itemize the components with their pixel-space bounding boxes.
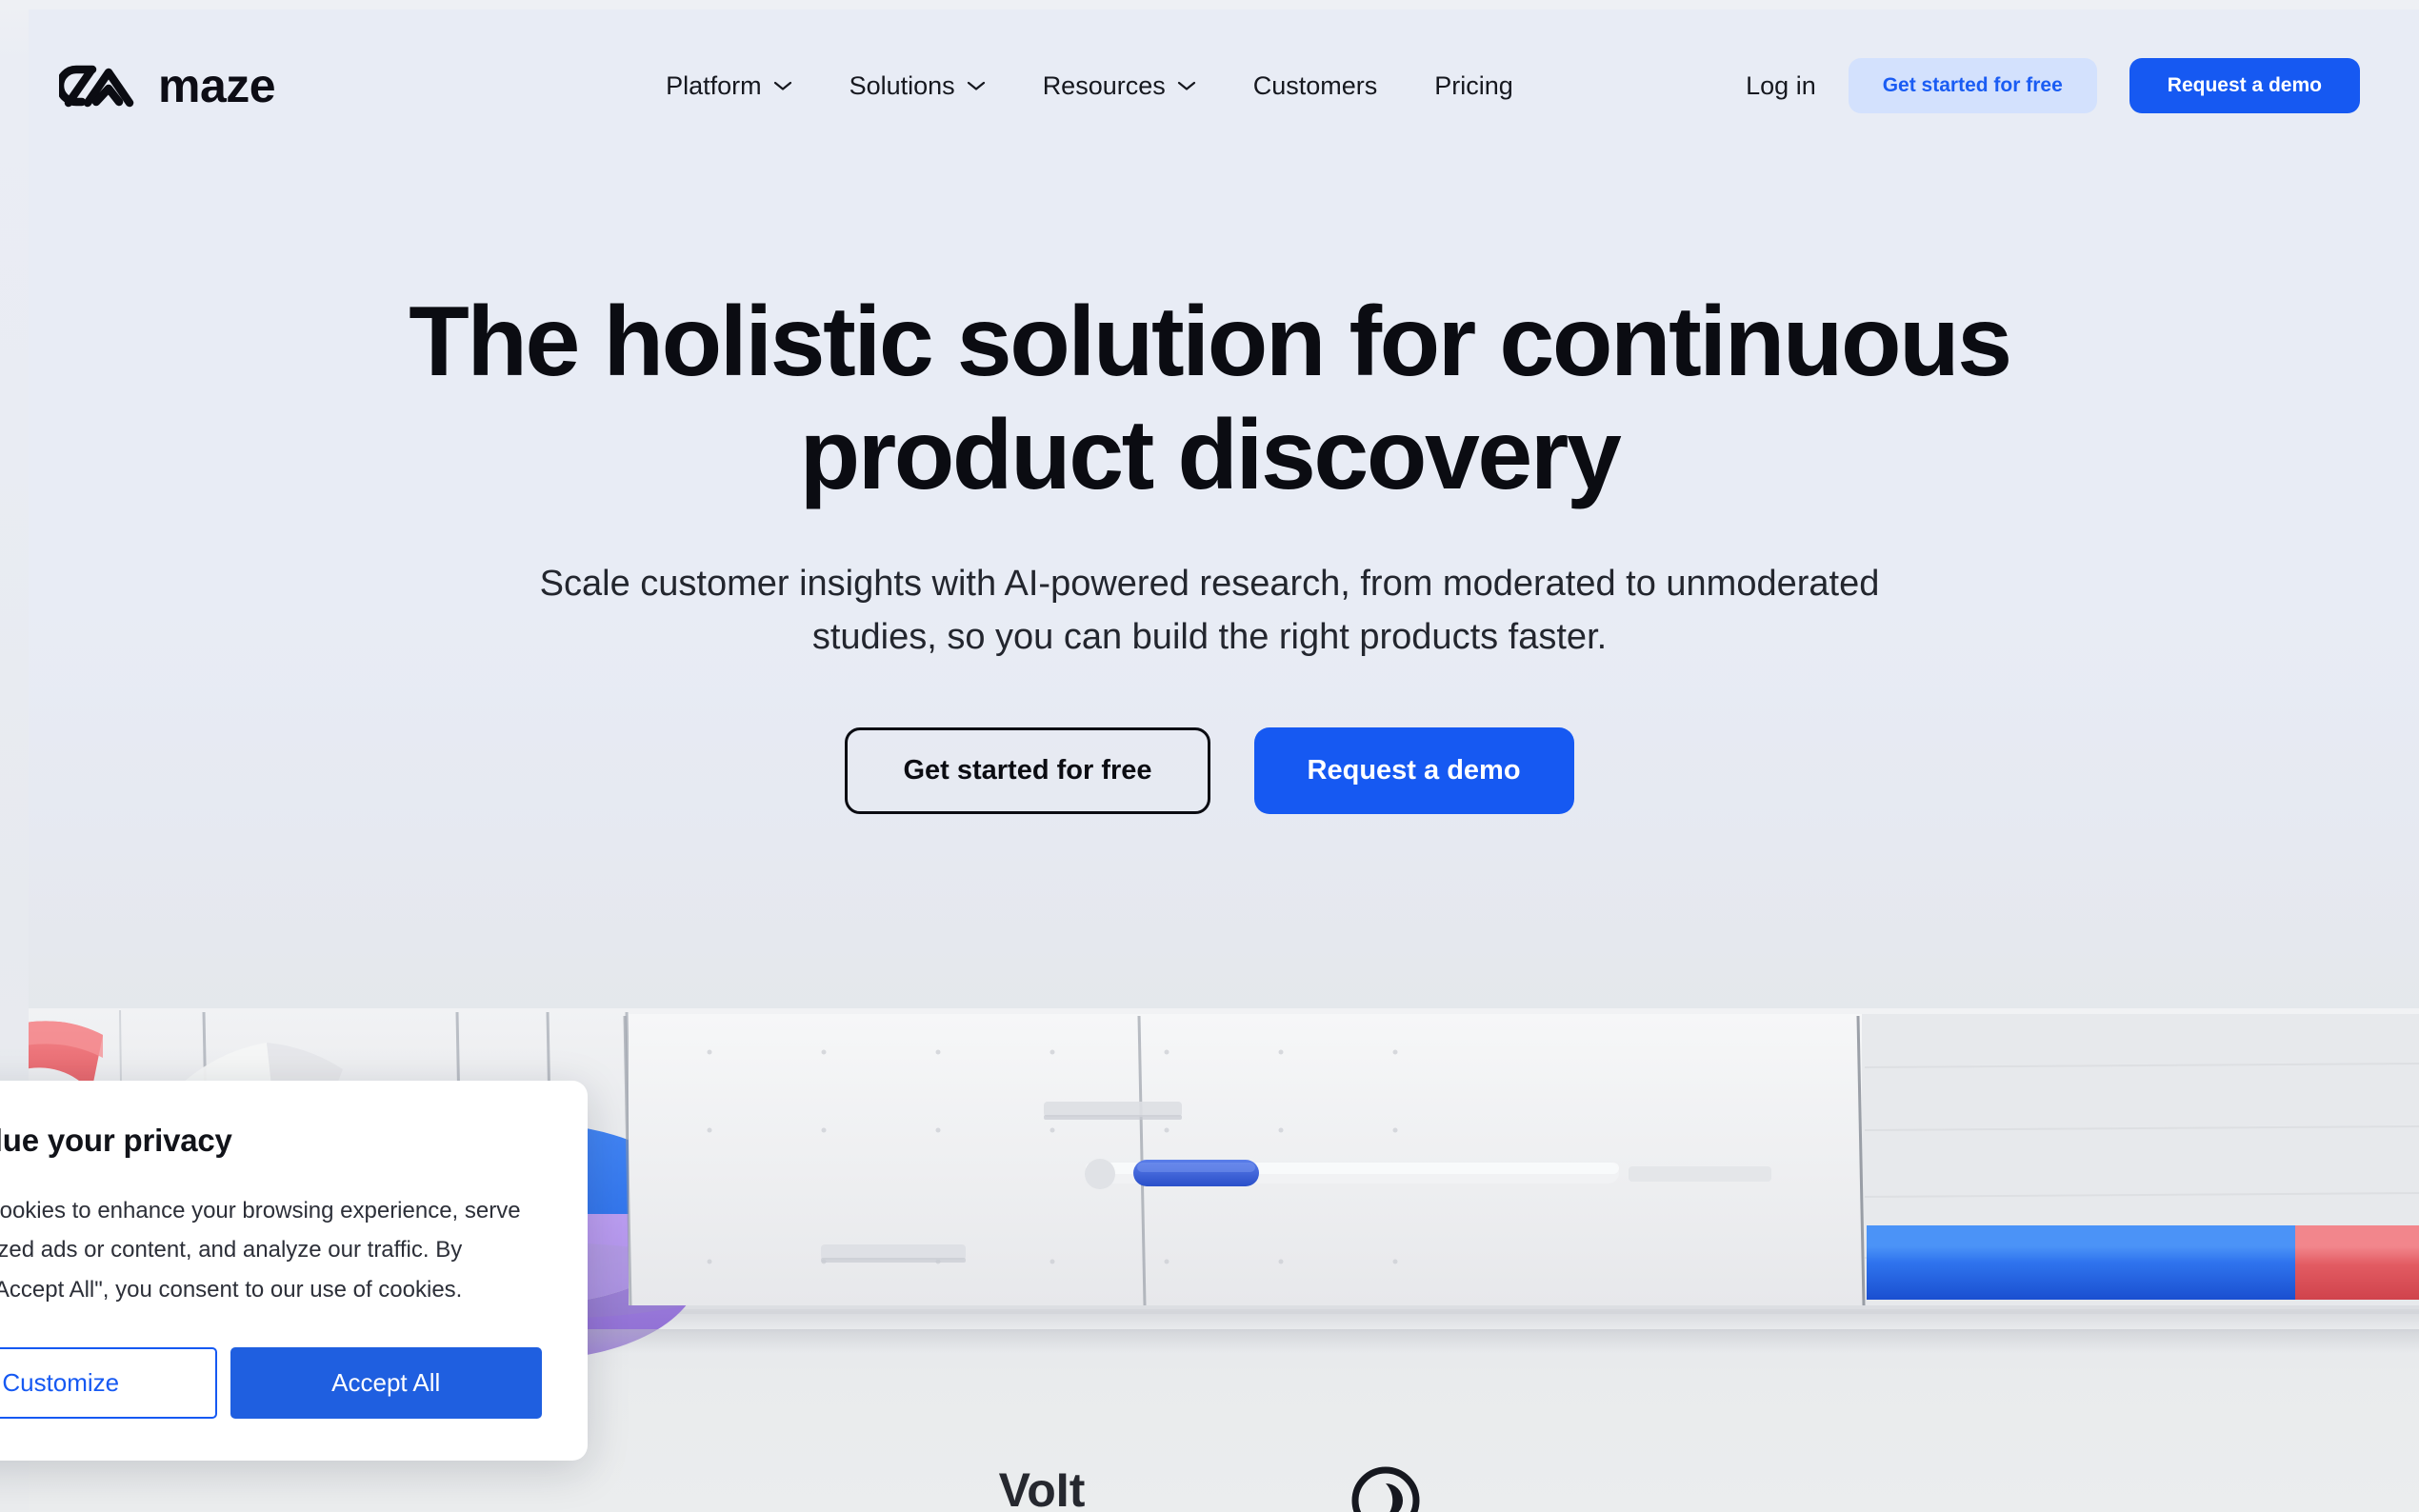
cookie-dialog-title: We value your privacy (0, 1123, 542, 1159)
cookie-dialog-body: We use cookies to enhance your browsing … (0, 1191, 542, 1309)
nav-item-label: Pricing (1434, 71, 1513, 101)
chevron-down-icon (773, 80, 792, 91)
nav-item-label: Resources (1043, 71, 1166, 101)
site-header: maze Platform Solutions Resources (0, 0, 2419, 171)
cookie-consent-dialog: We value your privacy We use cookies to … (0, 1081, 588, 1461)
cookie-accept-all-button[interactable]: Accept All (230, 1347, 543, 1419)
hero-headline: The holistic solution for continuous pro… (390, 286, 2029, 511)
nav-item-label: Platform (666, 71, 762, 101)
customer-logo-voit: VoIt (999, 1466, 1086, 1512)
hero-cta-group: Get started for free Request a demo (0, 727, 2419, 814)
header-request-demo-button[interactable]: Request a demo (2129, 58, 2360, 113)
brand-name: maze (158, 62, 275, 109)
nav-item-resources[interactable]: Resources (1014, 58, 1225, 114)
nav-item-customers[interactable]: Customers (1225, 58, 1407, 114)
nav-item-label: Customers (1253, 71, 1378, 101)
hero-section: The holistic solution for continuous pro… (0, 286, 2419, 814)
chevron-down-icon (1177, 80, 1196, 91)
customer-logo-strip: VoIt (0, 1466, 2419, 1512)
cookie-customize-button[interactable]: Customize (0, 1347, 217, 1419)
maze-logo-icon (59, 61, 137, 110)
nav-item-solutions[interactable]: Solutions (821, 58, 1014, 114)
circle-logo-icon (1351, 1466, 1420, 1512)
chevron-down-icon (967, 80, 986, 91)
page-root: maze Platform Solutions Resources (0, 0, 2419, 1512)
brand-logo[interactable]: maze (59, 61, 275, 110)
hero-subheadline: Scale customer insights with AI-powered … (533, 557, 1886, 664)
browser-top-edge (0, 0, 2419, 10)
main-nav: Platform Solutions Resources Customers (637, 58, 1542, 114)
header-actions: Log in Get started for free Request a de… (1746, 58, 2360, 113)
login-link[interactable]: Log in (1746, 71, 1816, 101)
header-get-started-button[interactable]: Get started for free (1849, 58, 2097, 113)
cookie-dialog-actions: Customize Accept All (0, 1347, 542, 1419)
nav-item-platform[interactable]: Platform (637, 58, 821, 114)
hero-request-demo-button[interactable]: Request a demo (1254, 727, 1574, 814)
nav-item-pricing[interactable]: Pricing (1406, 58, 1542, 114)
hero-get-started-button[interactable]: Get started for free (845, 727, 1209, 814)
nav-item-label: Solutions (850, 71, 955, 101)
